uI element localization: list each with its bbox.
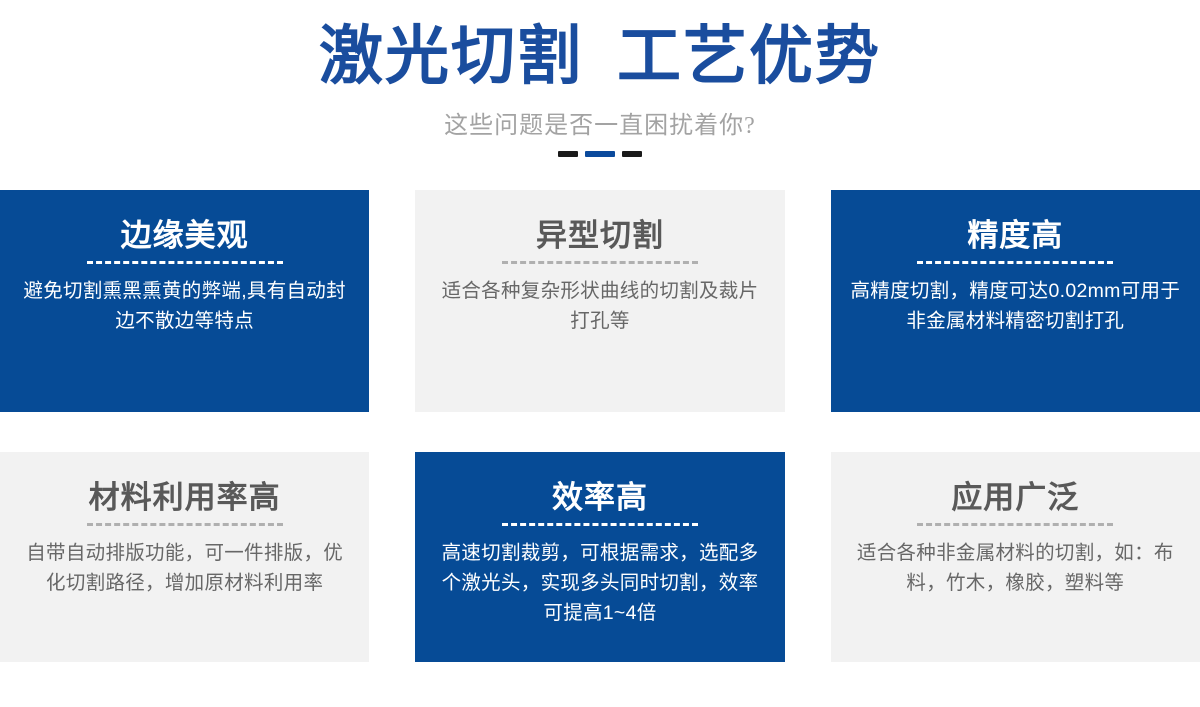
advantage-card-row-2: 材料利用率高 自带自动排版功能，可一件排版，优化切割路径，增加原材料利用率 效率… bbox=[0, 452, 1200, 662]
card-body-edge-beauty: 避免切割熏黑熏黄的弊端,具有自动封边不散边等特点 bbox=[20, 276, 350, 336]
decorative-dash-row bbox=[0, 151, 1200, 157]
advantage-card-shaped-cutting[interactable]: 异型切割 适合各种复杂形状曲线的切割及裁片打孔等 bbox=[415, 190, 784, 412]
card-body-wide-application: 适合各种非金属材料的切割，如：布料，竹木，橡胶，塑料等 bbox=[850, 538, 1180, 598]
advantage-card-edge-beauty[interactable]: 边缘美观 避免切割熏黑熏黄的弊端,具有自动封边不散边等特点 bbox=[0, 190, 369, 412]
card-divider-icon bbox=[502, 523, 698, 526]
card-title-high-precision: 精度高 bbox=[847, 220, 1184, 253]
card-title-shaped-cutting: 异型切割 bbox=[431, 220, 768, 253]
dash-black-right-icon bbox=[622, 151, 642, 157]
advantage-card-material-utilization[interactable]: 材料利用率高 自带自动排版功能，可一件排版，优化切割路径，增加原材料利用率 bbox=[0, 452, 369, 662]
card-title-wide-application: 应用广泛 bbox=[847, 482, 1184, 515]
page-header: 激光切割工艺优势 这些问题是否一直困扰着你? bbox=[0, 0, 1200, 157]
card-title-high-efficiency: 效率高 bbox=[431, 482, 768, 515]
card-divider-icon bbox=[917, 261, 1113, 264]
advantage-card-high-efficiency[interactable]: 效率高 高速切割裁剪，可根据需求，选配多个激光头，实现多头同时切割，效率可提高1… bbox=[415, 452, 784, 662]
laser-cutting-advantages-page: 激光切割工艺优势 这些问题是否一直困扰着你? 边缘美观 避免切割熏黑熏黄的弊端,… bbox=[0, 0, 1200, 707]
card-body-shaped-cutting: 适合各种复杂形状曲线的切割及裁片打孔等 bbox=[435, 276, 765, 336]
card-title-material-utilization: 材料利用率高 bbox=[16, 482, 353, 515]
card-body-material-utilization: 自带自动排版功能，可一件排版，优化切割路径，增加原材料利用率 bbox=[20, 538, 350, 598]
card-divider-icon bbox=[502, 261, 698, 264]
page-title-part1: 激光切割 bbox=[319, 20, 583, 92]
dash-black-left-icon bbox=[558, 151, 578, 157]
card-divider-icon bbox=[87, 523, 283, 526]
advantage-card-high-precision[interactable]: 精度高 高精度切割，精度可达0.02mm可用于非金属材料精密切割打孔 bbox=[831, 190, 1200, 412]
page-subtitle: 这些问题是否一直困扰着你? bbox=[0, 105, 1200, 140]
page-title: 激光切割工艺优势 bbox=[0, 22, 1200, 91]
advantage-card-row-1: 边缘美观 避免切割熏黑熏黄的弊端,具有自动封边不散边等特点 异型切割 适合各种复… bbox=[0, 190, 1200, 412]
card-body-high-precision: 高精度切割，精度可达0.02mm可用于非金属材料精密切割打孔 bbox=[850, 276, 1180, 336]
card-divider-icon bbox=[87, 261, 283, 264]
card-title-edge-beauty: 边缘美观 bbox=[16, 220, 353, 253]
advantage-card-wide-application[interactable]: 应用广泛 适合各种非金属材料的切割，如：布料，竹木，橡胶，塑料等 bbox=[831, 452, 1200, 662]
page-title-part2: 工艺优势 bbox=[617, 20, 881, 92]
dash-blue-center-icon bbox=[585, 151, 615, 157]
card-body-high-efficiency: 高速切割裁剪，可根据需求，选配多个激光头，实现多头同时切割，效率可提高1~4倍 bbox=[435, 538, 765, 629]
advantage-card-grid: 边缘美观 避免切割熏黑熏黄的弊端,具有自动封边不散边等特点 异型切割 适合各种复… bbox=[0, 190, 1200, 662]
card-divider-icon bbox=[917, 523, 1113, 526]
